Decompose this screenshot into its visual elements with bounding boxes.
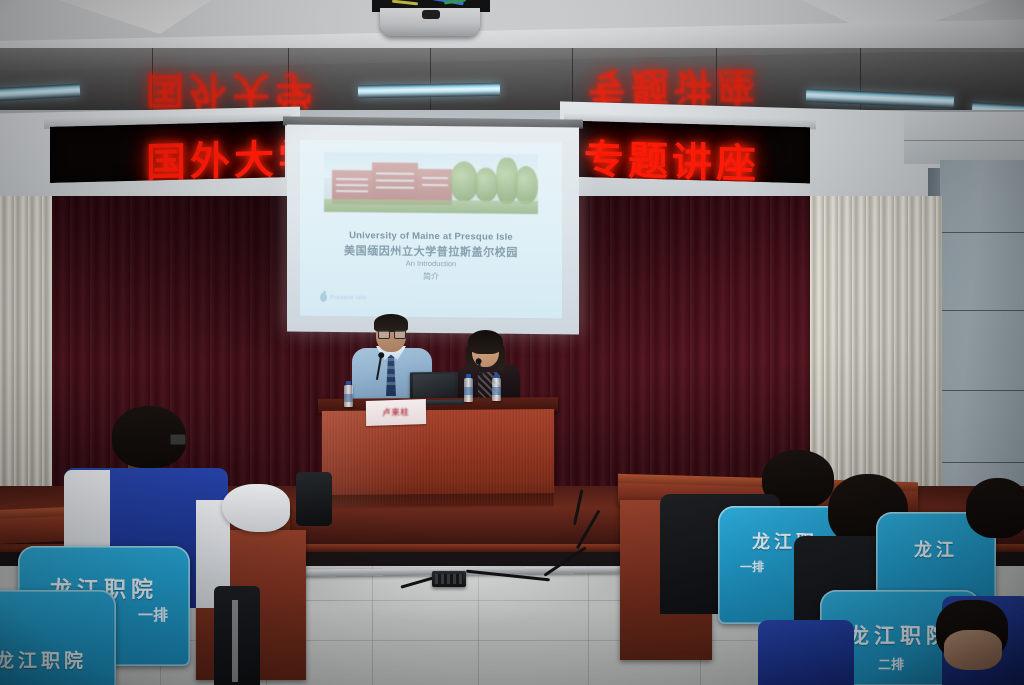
bottle-label: [464, 387, 473, 395]
water-bottle[interactable]: [344, 385, 353, 407]
photo-window-row: [422, 184, 448, 186]
photo-tree: [514, 166, 538, 204]
photo-window-row: [376, 186, 414, 188]
bottle-cap: [346, 381, 351, 385]
chair-cover-row-label: 一排: [138, 604, 168, 625]
led-banner-right: 专题讲座: [570, 121, 810, 184]
photo-window-row: [376, 179, 414, 181]
photo-window-row: [336, 184, 368, 186]
chair-cover-row-label: 一排: [740, 558, 764, 575]
white-bag: [222, 484, 290, 532]
junction-box-vents: [435, 574, 463, 584]
leaf-icon: [320, 293, 327, 302]
glasses-icon: [170, 434, 186, 445]
tie-stripe: [386, 382, 396, 385]
slide-logo: Presque Isle: [320, 292, 384, 304]
pillar-seam: [928, 232, 1024, 233]
chair-cover-text: 龙江职院: [0, 646, 116, 673]
female-speaker-hair: [468, 330, 503, 354]
chair-cover-row-label: 二排: [878, 654, 904, 673]
ceiling-projector: [372, 0, 490, 36]
photo-lawn: [324, 199, 538, 214]
laptop-screen: [413, 374, 455, 399]
slide-campus-photo: [324, 152, 538, 214]
tie-stripe: [386, 374, 396, 377]
glasses-lens: [378, 330, 390, 339]
wall-pillar: [940, 160, 1024, 532]
ceiling-vault-left: [40, 0, 220, 34]
student-right-5-face: [944, 630, 1002, 670]
photo-window-row: [376, 172, 414, 174]
projector-lens-icon: [422, 10, 440, 19]
pillar-seam: [928, 310, 1024, 311]
bottle-cap: [494, 374, 499, 378]
student-right-3-torso: [758, 620, 854, 685]
ceiling-light-fixture: [358, 83, 500, 98]
floor-junction-box: [432, 571, 466, 587]
table-shadow: [322, 493, 554, 509]
photo-window-row: [422, 177, 448, 179]
trouser-stripe: [232, 600, 238, 682]
photo-tree: [474, 167, 498, 201]
water-bottle[interactable]: [492, 378, 501, 401]
black-bag: [296, 472, 332, 526]
led-banner-left-text: 国外大学: [146, 126, 285, 183]
bottle-label: [344, 394, 353, 402]
led-banner-left: 国外大学: [50, 121, 285, 183]
pillar-cap-seam: [904, 140, 1024, 141]
glasses-icon: [378, 330, 404, 337]
pillar-cap: [904, 112, 1024, 164]
cable: [392, 0, 418, 5]
name-placard-text: 卢来柱: [382, 407, 409, 419]
chair-cover: 龙江职院: [0, 590, 116, 685]
stage-curtain-cream-left: [0, 196, 52, 496]
slide-logo-text: Presque Isle: [330, 294, 367, 300]
slide-subtitle-english: An Introduction: [300, 258, 562, 270]
pillar-seam: [928, 390, 1024, 391]
name-placard: 卢来柱: [366, 399, 426, 426]
chair-cover-text: 龙江: [876, 536, 996, 562]
photo-window-row: [336, 190, 368, 192]
bottle-label: [492, 387, 501, 395]
student-right-4-head: [966, 478, 1024, 538]
lecture-hall-photo: 国外大学 专题讲座 国外大学 专题讲座: [0, 0, 1024, 685]
tie-stripe: [386, 366, 396, 369]
water-bottle[interactable]: [464, 378, 473, 402]
bottle-cap: [466, 374, 471, 378]
pillar-seam: [928, 462, 1024, 463]
stage-curtain-cream-right: [810, 196, 942, 496]
slide-subtitle-chinese: 简介: [300, 270, 562, 284]
glasses-lens: [394, 330, 406, 339]
led-banner-right-text: 专题讲座: [584, 127, 760, 183]
presentation-slide: University of Maine at Presque Isle 美国缅因…: [300, 140, 562, 319]
photo-window-row: [336, 178, 368, 180]
